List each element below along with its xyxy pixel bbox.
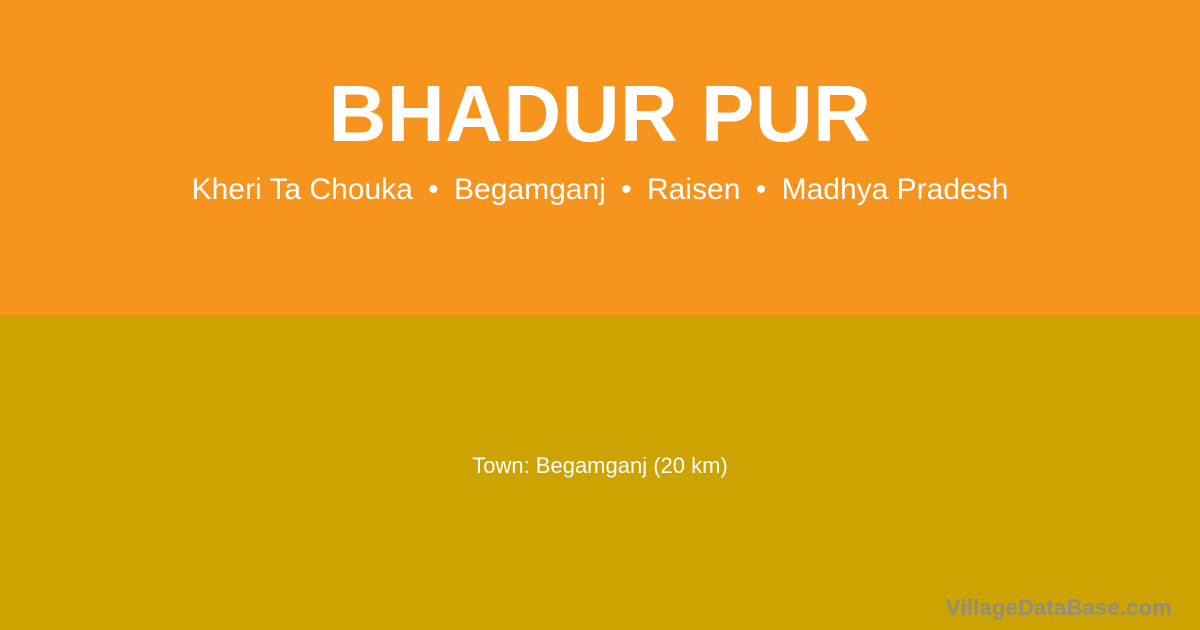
breadcrumb-separator-icon: •: [421, 172, 446, 208]
breadcrumb-separator-icon: •: [749, 172, 774, 208]
breadcrumb-part-block: Begamganj: [454, 173, 606, 206]
body-band: Town: Begamganj (20 km) VillageDataBase.…: [0, 315, 1200, 630]
location-breadcrumb: Kheri Ta Chouka • Begamganj • Raisen • M…: [192, 172, 1009, 208]
breadcrumb-part-district: Raisen: [647, 173, 740, 206]
header-band: BHADUR PUR Kheri Ta Chouka • Begamganj •…: [0, 0, 1200, 315]
nearest-town-caption: Town: Begamganj (20 km): [472, 451, 728, 481]
village-info-card: BHADUR PUR Kheri Ta Chouka • Begamganj •…: [0, 0, 1200, 630]
breadcrumb-part-panchayat: Kheri Ta Chouka: [192, 173, 413, 206]
breadcrumb-separator-icon: •: [614, 172, 639, 208]
site-watermark: VillageDataBase.com: [946, 594, 1172, 622]
breadcrumb-part-state: Madhya Pradesh: [782, 173, 1009, 206]
page-title: BHADUR PUR: [329, 72, 872, 156]
